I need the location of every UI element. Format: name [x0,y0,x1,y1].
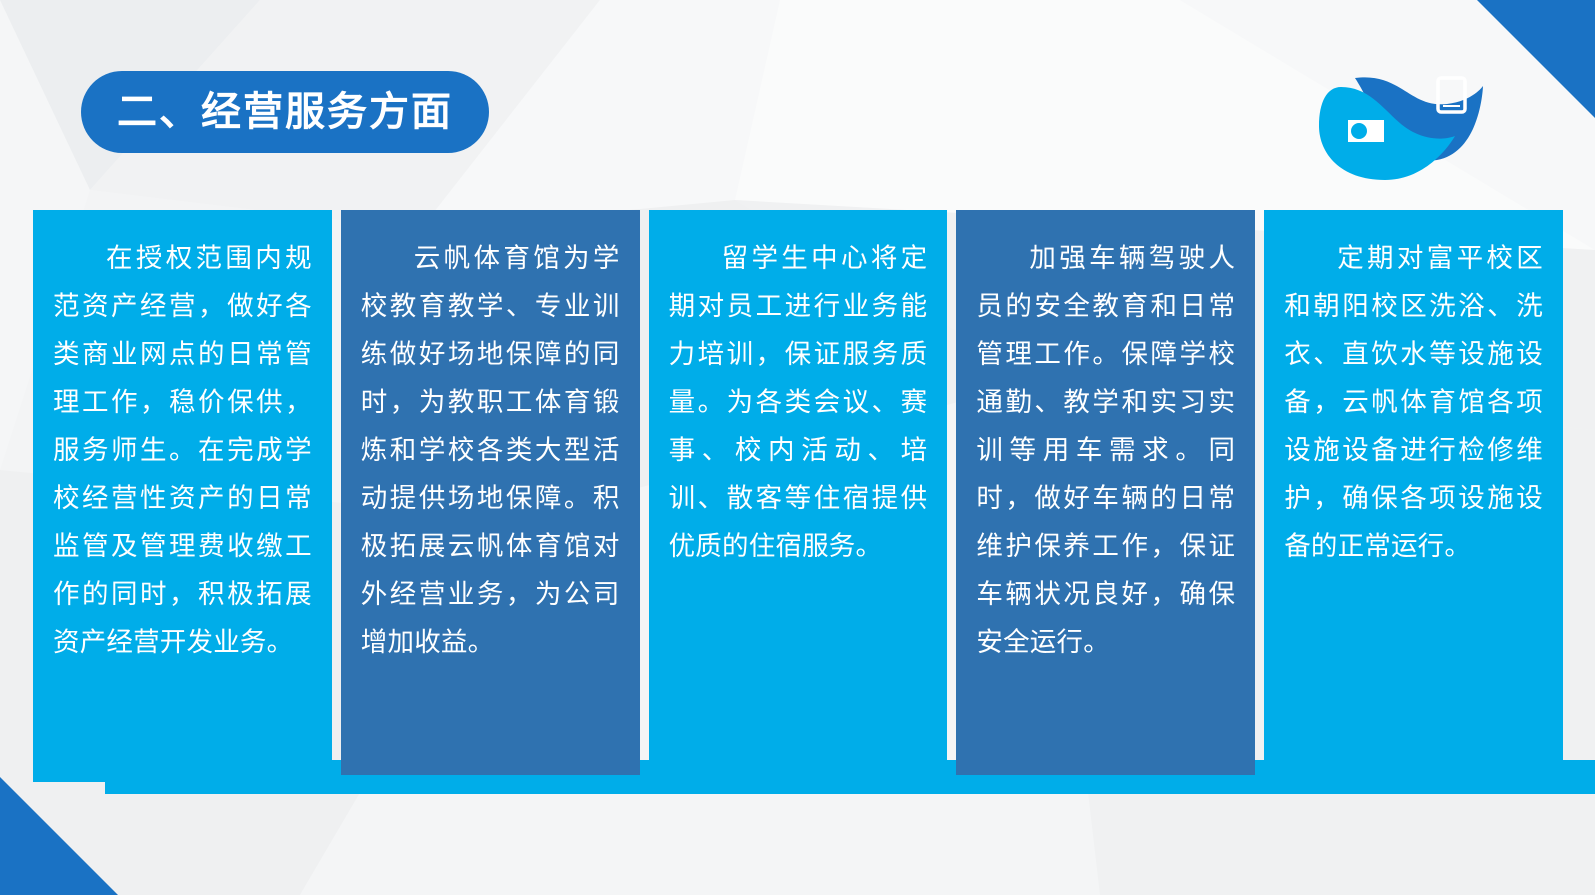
content-card-2[interactable]: 云帆体育馆为学校教育教学、专业训练做好场地保障的同时，为教职工体育锻炼和学校各类… [341,210,640,775]
slide-canvas: 二、经营服务方面 在授权范围内规范资产经营，做好各类商业网点的日常管理工作，稳价… [0,0,1595,895]
top-right-blue-triangle [1477,0,1595,118]
content-card-4[interactable]: 加强车辆驾驶人员的安全教育和日常管理工作。保障学校通勤、教学和实习实训等用车需求… [956,210,1255,775]
content-card-5[interactable]: 定期对富平校区和朝阳校区洗浴、洗衣、直饮水等设施设备，云帆体育馆各项设施设备进行… [1264,210,1563,782]
section-title-pill: 二、经营服务方面 [81,71,489,153]
card-body-text: 定期对富平校区和朝阳校区洗浴、洗衣、直饮水等设施设备，云帆体育馆各项设施设备进行… [1284,234,1543,570]
page-title: 二、经营服务方面 [117,92,453,132]
wave-logo-icon [1297,56,1483,180]
bottom-left-blue-triangle [0,777,118,895]
content-card-1[interactable]: 在授权范围内规范资产经营，做好各类商业网点的日常管理工作，稳价保供，服务师生。在… [33,210,332,782]
company-logo [1297,56,1483,180]
content-card-3[interactable]: 留学生中心将定期对员工进行业务能力培训，保证服务质量。为各类会议、赛事、校内活动… [649,210,948,782]
content-card-row: 在授权范围内规范资产经营，做好各类商业网点的日常管理工作，稳价保供，服务师生。在… [33,210,1563,782]
card-body-text: 云帆体育馆为学校教育教学、专业训练做好场地保障的同时，为教职工体育锻炼和学校各类… [361,234,620,666]
logo-card-dot-icon [1351,123,1367,139]
card-body-text: 留学生中心将定期对员工进行业务能力培训，保证服务质量。为各类会议、赛事、校内活动… [669,234,928,570]
card-body-text: 在授权范围内规范资产经营，做好各类商业网点的日常管理工作，稳价保供，服务师生。在… [53,234,312,666]
card-body-text: 加强车辆驾驶人员的安全教育和日常管理工作。保障学校通勤、教学和实习实训等用车需求… [976,234,1235,666]
logo-tablet-bar-icon [1443,105,1460,107]
